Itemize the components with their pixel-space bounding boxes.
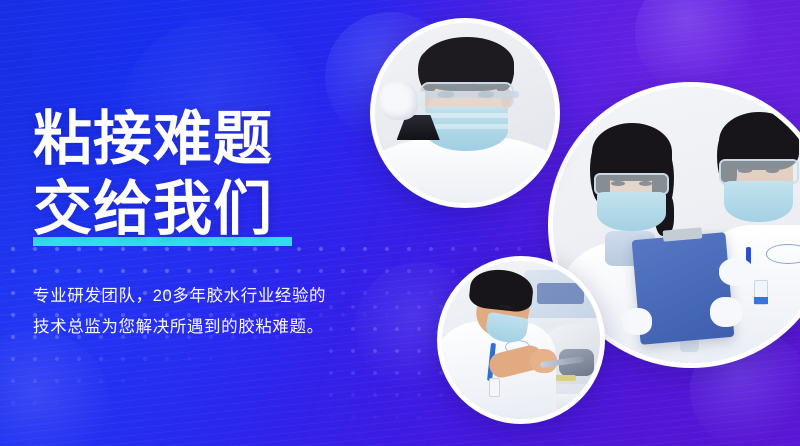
headline-line-1: 粘接难题: [33, 104, 363, 174]
photo-lab-flask-scene: [375, 23, 555, 203]
promo-banner: 粘接难题 交给我们 专业研发团队，20多年胶水行业经验的 技术总监为您解决所遇到…: [0, 0, 800, 446]
subtitle-line-2: 技术总监为您解决所遇到的胶粘难题。: [33, 312, 363, 343]
photo-lab-flask: [370, 18, 560, 208]
headline-block: 粘接难题 交给我们 专业研发团队，20多年胶水行业经验的 技术总监为您解决所遇到…: [33, 104, 363, 343]
photo-technician: [437, 256, 605, 424]
photo-technician-scene: [442, 261, 600, 419]
headline-group: 粘接难题 交给我们: [33, 104, 363, 244]
subtitle-line-1: 专业研发团队，20多年胶水行业经验的: [33, 244, 363, 312]
headline-line-2: 交给我们: [33, 174, 363, 244]
